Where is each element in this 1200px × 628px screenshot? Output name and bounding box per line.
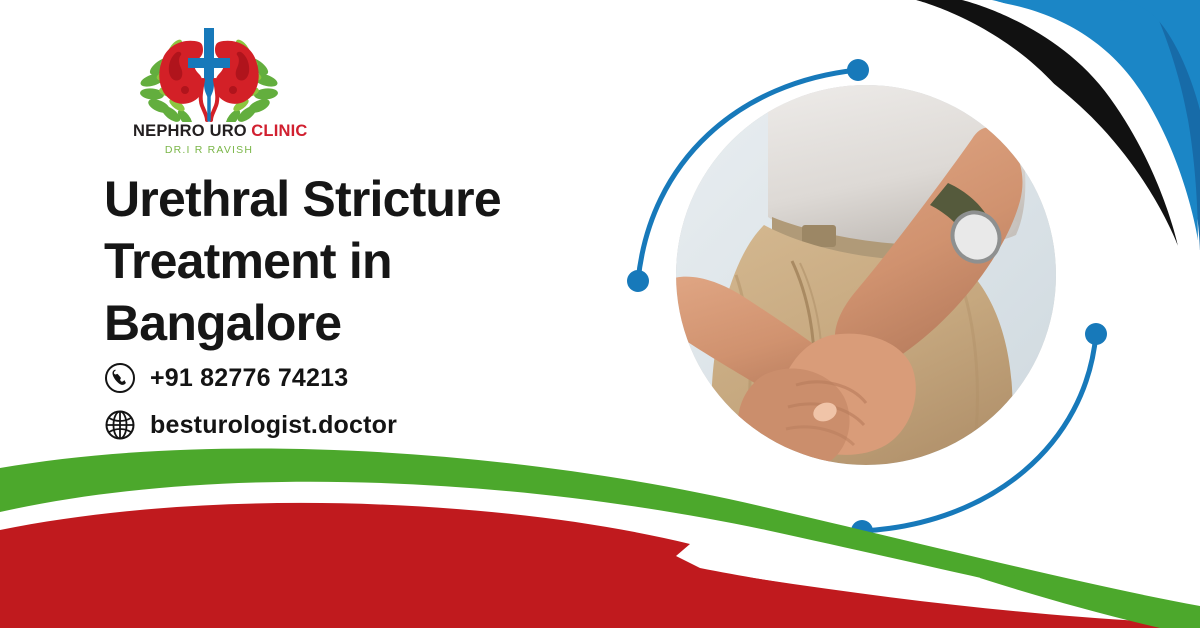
kidney-cross-logo-icon — [133, 22, 285, 122]
hero-photo-illustration — [676, 85, 1056, 465]
wave-red — [0, 503, 1200, 628]
kidney-left-dot-icon — [181, 86, 189, 94]
wave-green-tail — [980, 568, 1200, 628]
contact-row-phone[interactable]: +91 82776 74213 — [104, 358, 397, 398]
wave-white-separator — [0, 482, 1200, 628]
wave-white-backdrop — [0, 454, 1200, 628]
top-right-blue-arc-dark — [1060, 0, 1200, 250]
wave-red-right — [690, 568, 1200, 628]
banner-root: NEPHRO URO CLINIC DR.I R RAVISH Urethral… — [0, 0, 1200, 628]
hero-photo — [676, 85, 1056, 465]
arc-dot-bottom-left — [627, 270, 649, 292]
contact-row-website[interactable]: besturologist.doctor — [104, 405, 397, 445]
logo-wordmark: NEPHRO URO CLINIC — [133, 123, 285, 140]
logo-wordmark-primary: NEPHRO URO — [133, 122, 247, 140]
arc-dot-right-bottom — [851, 520, 873, 542]
logo-subtitle: DR.I R RAVISH — [133, 144, 285, 156]
top-right-blue-fill — [1120, 0, 1200, 110]
kidney-right-dot-icon — [229, 86, 237, 94]
page-title: Urethral Stricture Treatment in Bangalor… — [104, 168, 624, 354]
contact-block: +91 82776 74213 besturologist.doctor — [104, 358, 397, 452]
logo-wordmark-accent: CLINIC — [251, 122, 307, 140]
arc-dot-top-left — [847, 59, 869, 81]
contact-phone-label: +91 82776 74213 — [150, 364, 348, 393]
globe-icon — [104, 409, 136, 441]
clinic-logo: NEPHRO URO CLINIC DR.I R RAVISH — [133, 22, 285, 158]
wave-green — [0, 448, 1200, 628]
arc-dot-right-top — [1085, 323, 1107, 345]
phone-icon — [104, 362, 136, 394]
contact-website-label: besturologist.doctor — [150, 411, 397, 440]
